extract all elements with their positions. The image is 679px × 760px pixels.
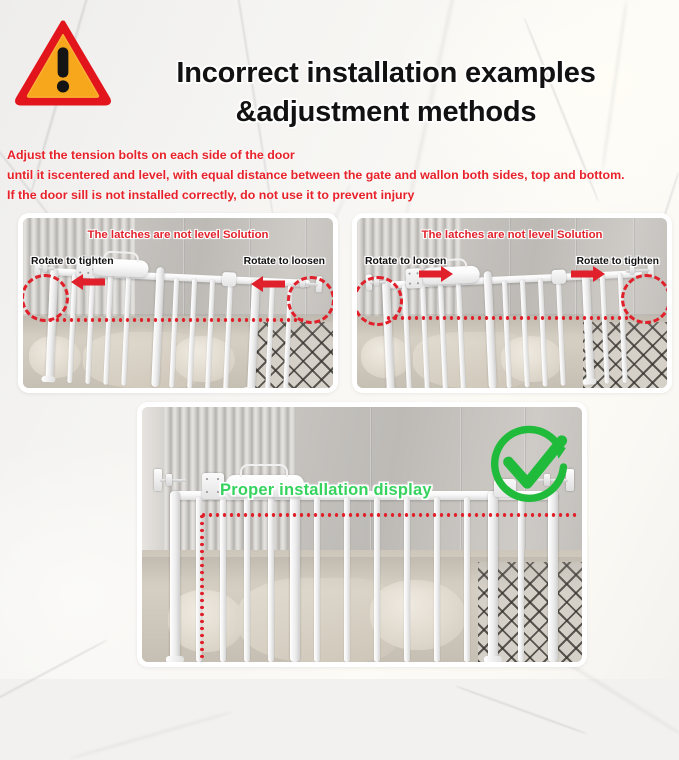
- panel-latches-not-level-left: The latches are not level Solution Rotat…: [18, 213, 338, 393]
- level-reference-line: [385, 316, 633, 320]
- panel-left-photo: The latches are not level Solution Rotat…: [23, 218, 333, 388]
- level-reference-line-horizontal: [200, 513, 578, 517]
- title-line-2: &adjustment methods: [108, 93, 664, 132]
- level-reference-line-vertical: [200, 513, 204, 661]
- green-check-circle-icon: [488, 421, 570, 508]
- arrow-left-tighten: [71, 274, 105, 295]
- title-line-1: Incorrect installation examples: [176, 57, 595, 89]
- instruction-line-3: If the door sill is not installed correc…: [7, 185, 679, 205]
- panel-bottom-photo: Proper installation display: [142, 407, 582, 662]
- highlight-circle-left-bolt: [23, 274, 69, 322]
- panel-latches-not-level-right: The latches are not level Solution Rotat…: [352, 213, 672, 393]
- panel-proper-installation: Proper installation display: [137, 402, 587, 667]
- arrow-left-loosen: [419, 266, 453, 287]
- arrow-right-loosen: [251, 276, 285, 297]
- arrow-right-tighten: [571, 266, 605, 287]
- instruction-line-2: until it iscentered and level, with equa…: [7, 165, 679, 185]
- instruction-text: Adjust the tension bolts on each side of…: [7, 145, 679, 205]
- warning-triangle-icon: [14, 18, 112, 106]
- instruction-line-1: Adjust the tension bolts on each side of…: [7, 145, 679, 165]
- panel-right-title: The latches are not level Solution: [357, 229, 667, 241]
- panel-right-photo: The latches are not level Solution Rotat…: [357, 218, 667, 388]
- panel-left-label-tighten: Rotate to tighten: [31, 256, 114, 267]
- highlight-circle-right-bolt: [287, 276, 333, 324]
- proper-installation-label: Proper installation display: [220, 481, 432, 500]
- page-title: Incorrect installation examples &adjustm…: [108, 54, 664, 133]
- panel-left-title: The latches are not level Solution: [23, 229, 333, 241]
- level-reference-line: [47, 318, 303, 322]
- panel-left-label-loosen: Rotate to loosen: [244, 256, 325, 267]
